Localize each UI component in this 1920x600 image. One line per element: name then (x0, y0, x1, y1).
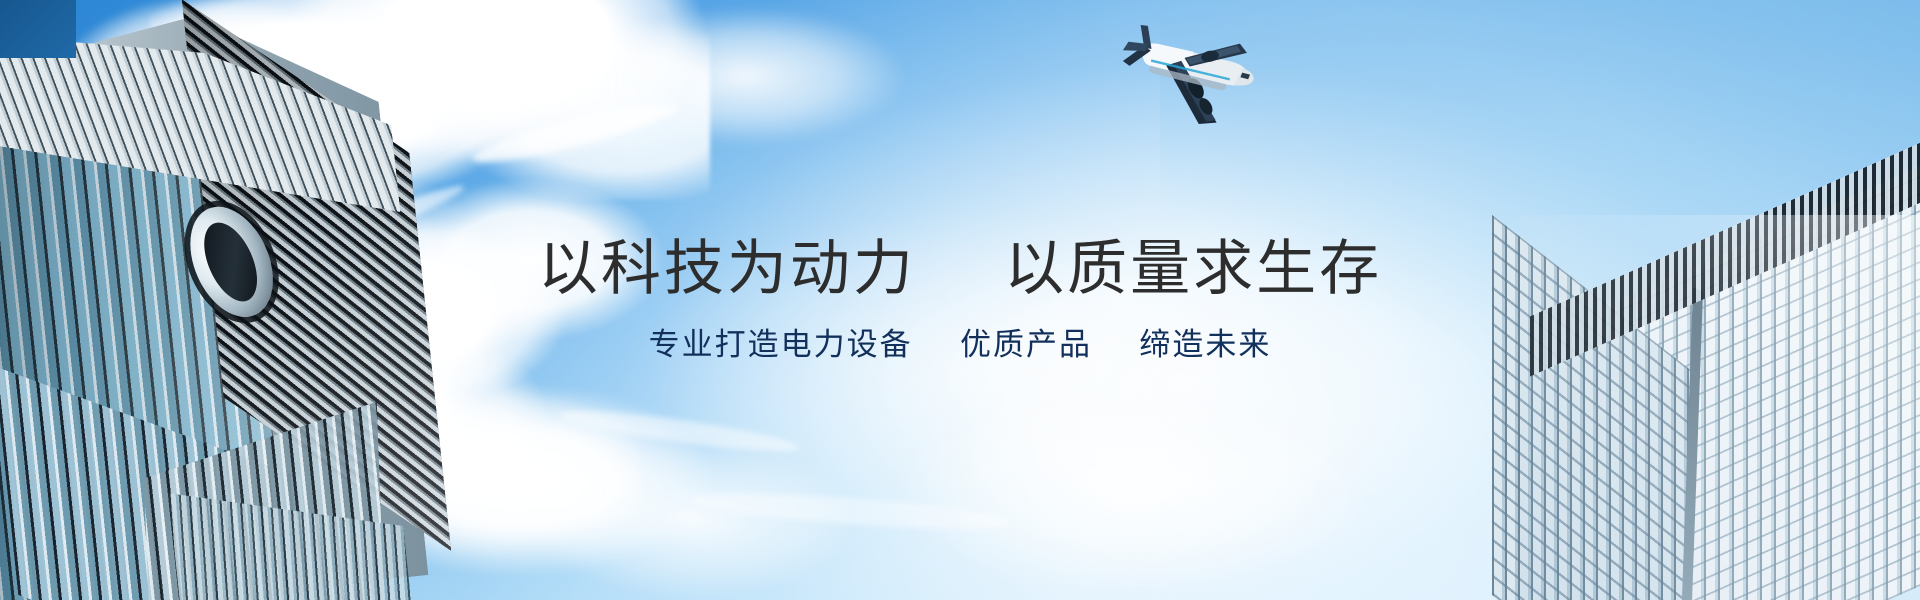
airplane-icon (1100, 8, 1290, 168)
right-building-glare (1520, 215, 1920, 600)
cloud-haze-right (860, 330, 1480, 600)
right-skyscraper (1400, 175, 1920, 600)
corner-color-patch (0, 0, 76, 58)
left-skyscraper (0, 0, 450, 600)
hero-banner: 以科技为动力 以质量求生存 专业打造电力设备 优质产品 缔造未来 (0, 0, 1920, 600)
